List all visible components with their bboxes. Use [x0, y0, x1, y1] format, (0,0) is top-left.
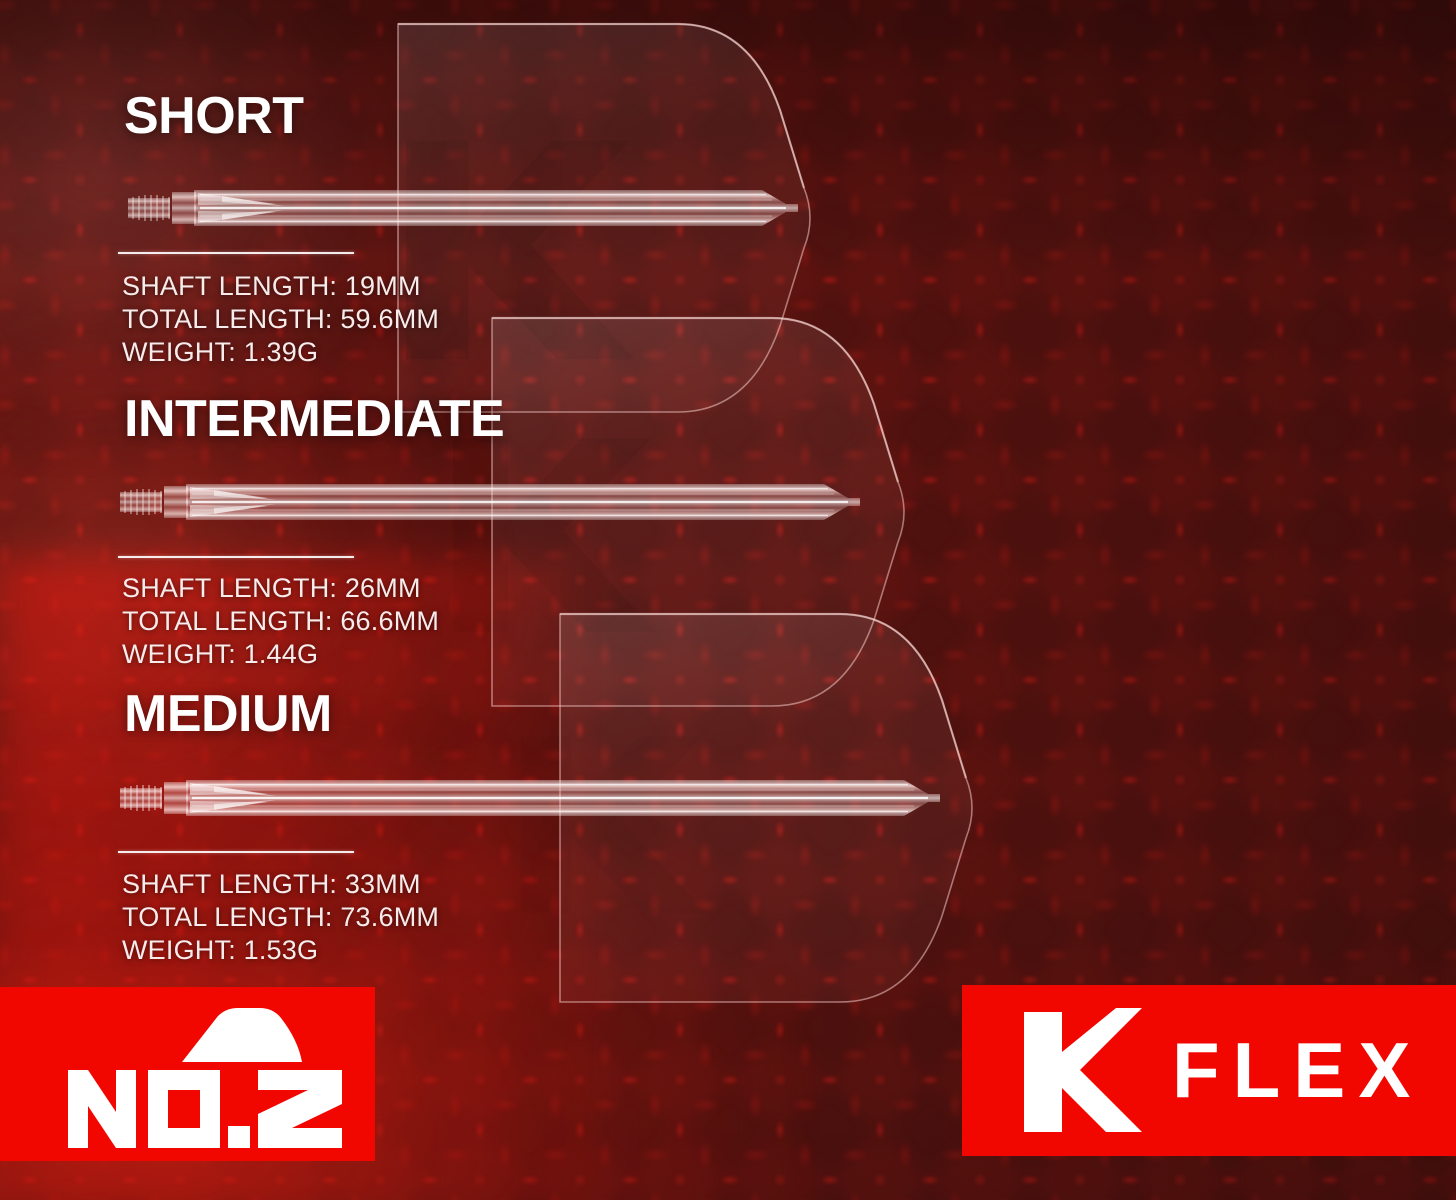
spec-list-intermediate: SHAFT LENGTH: 26MM TOTAL LENGTH: 66.6MM … [122, 572, 439, 671]
spec-list-medium: SHAFT LENGTH: 33MM TOTAL LENGTH: 73.6MM … [122, 868, 439, 967]
dart-shaft-intermediate [118, 472, 878, 532]
section-divider-intermediate [118, 556, 354, 558]
spec-weight-intermediate: WEIGHT: 1.44G [122, 638, 439, 671]
section-heading-medium: MEDIUM [124, 688, 332, 740]
infographic-canvas: SHORT SHAFT LENGTH: 19MM TOTAL LENGTH: 5… [0, 0, 1456, 1200]
spec-total-length-short: TOTAL LENGTH: 59.6MM [122, 303, 439, 336]
section-divider-short [118, 252, 354, 254]
spec-shaft-length-short: SHAFT LENGTH: 19MM [122, 270, 439, 303]
spec-shaft-length-intermediate: SHAFT LENGTH: 26MM [122, 572, 439, 605]
section-heading-intermediate: INTERMEDIATE [124, 393, 504, 445]
section-heading-short: SHORT [124, 90, 304, 142]
spec-weight-short: WEIGHT: 1.39G [122, 336, 439, 369]
section-divider-medium [118, 851, 354, 853]
kflex-wordmark: FLEX [1172, 1031, 1423, 1109]
spec-shaft-length-medium: SHAFT LENGTH: 33MM [122, 868, 439, 901]
k-mark-icon [1020, 1008, 1142, 1132]
spec-total-length-intermediate: TOTAL LENGTH: 66.6MM [122, 605, 439, 638]
spec-total-length-medium: TOTAL LENGTH: 73.6MM [122, 901, 439, 934]
spec-list-short: SHAFT LENGTH: 19MM TOTAL LENGTH: 59.6MM … [122, 270, 439, 369]
dart-shaft-short [126, 178, 816, 238]
kflex-logo: FLEX [1020, 1008, 1423, 1132]
spec-weight-medium: WEIGHT: 1.53G [122, 934, 439, 967]
no2-logo [60, 1000, 350, 1150]
dart-shaft-medium [118, 768, 958, 828]
